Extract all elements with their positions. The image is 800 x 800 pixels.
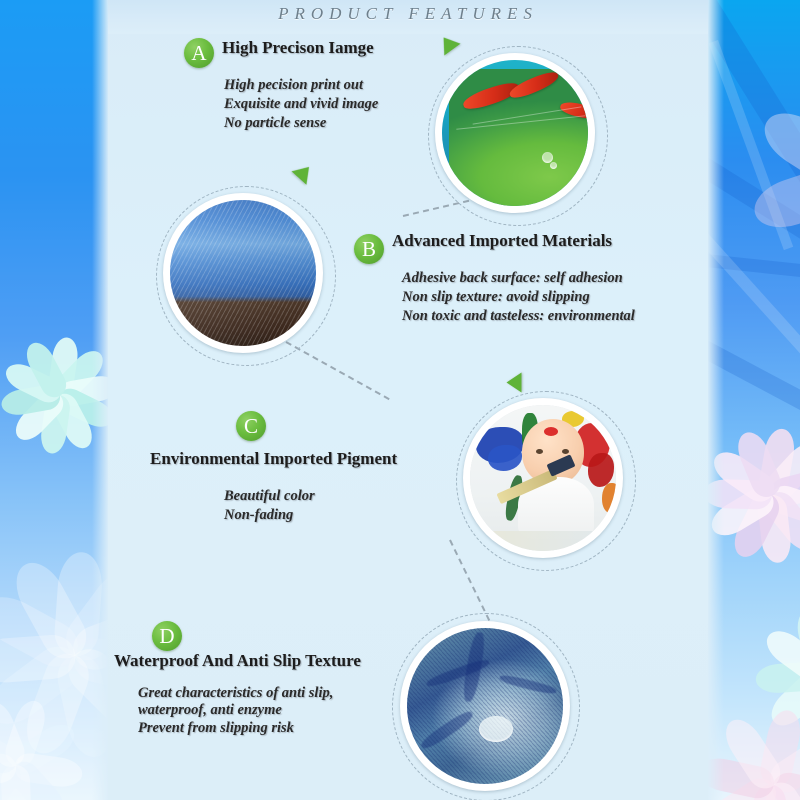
feature-body-d-line-3: Prevent from slipping risk xyxy=(138,719,294,738)
water-streak-2 xyxy=(425,657,490,689)
feature-title-c: Environmental Imported Pigment xyxy=(150,449,397,469)
feature-title-b: Advanced Imported Materials xyxy=(392,231,612,251)
baby-eye-left xyxy=(536,449,543,454)
feature-title-a: High Precison Iamge xyxy=(222,38,374,58)
water-streak-4 xyxy=(419,708,475,752)
feature-body-a-line-1: High pecision print out xyxy=(224,76,363,95)
paint-splat-red-2 xyxy=(588,453,614,487)
koi-fish-lotus-leaf-photo xyxy=(435,53,595,213)
feature-body-c-line-1: Beautiful color xyxy=(224,487,315,506)
baby-painting-photo xyxy=(463,398,623,558)
feature-badge-a: A xyxy=(184,38,214,68)
feature-body-c-line-2: Non-fading xyxy=(224,506,293,525)
baby-eye-right xyxy=(562,449,569,454)
feature-body-b-line-2: Non slip texture: avoid slipping xyxy=(402,288,590,307)
page-title: PRODUCT FEATURES xyxy=(108,4,708,24)
left-decorative-border xyxy=(0,0,108,800)
paint-splat-orange xyxy=(602,483,616,513)
connector-b-to-c xyxy=(286,341,390,400)
feature-body-a-line-2: Exquisite and vivid image xyxy=(224,95,378,114)
flower-motif-left-bottom xyxy=(0,690,90,800)
blue-ribbed-material-photo xyxy=(163,193,323,353)
right-border-fade xyxy=(708,0,724,800)
droplet-a-2 xyxy=(550,162,557,169)
feature-body-b-line-1: Adhesive back surface: self adhesion xyxy=(402,269,623,288)
waterproof-surface-droplet-photo xyxy=(400,621,570,791)
flower-motif-right-upper xyxy=(738,60,800,300)
feature-body-d-line-2: waterproof, anti enzyme xyxy=(138,701,282,720)
arrow-to-photo-b xyxy=(292,160,317,185)
arrow-to-photo-a xyxy=(436,32,461,56)
feature-badge-b: B xyxy=(354,234,384,264)
painted-paper xyxy=(480,531,616,551)
feature-badge-c: C xyxy=(236,411,266,441)
left-border-fade xyxy=(92,0,108,800)
main-content-panel: PRODUCT FEATURES A High Precison Iamge H… xyxy=(108,0,708,800)
feature-badge-d: D xyxy=(152,621,182,651)
product-features-infographic: PRODUCT FEATURES A High Precison Iamge H… xyxy=(0,0,800,800)
paint-spot-forehead xyxy=(544,427,558,436)
feature-body-b-line-3: Non toxic and tasteless: environmental xyxy=(402,307,635,326)
paint-splat-blue-2 xyxy=(488,445,522,471)
arrow-to-photo-c xyxy=(507,373,522,393)
feature-body-a-line-3: No particle sense xyxy=(224,114,326,133)
feature-title-d: Waterproof And Anti Slip Texture xyxy=(114,651,361,671)
flower-petal xyxy=(748,158,800,236)
water-streak-3 xyxy=(499,673,557,696)
right-decorative-border xyxy=(708,0,800,800)
water-droplet xyxy=(479,716,513,742)
